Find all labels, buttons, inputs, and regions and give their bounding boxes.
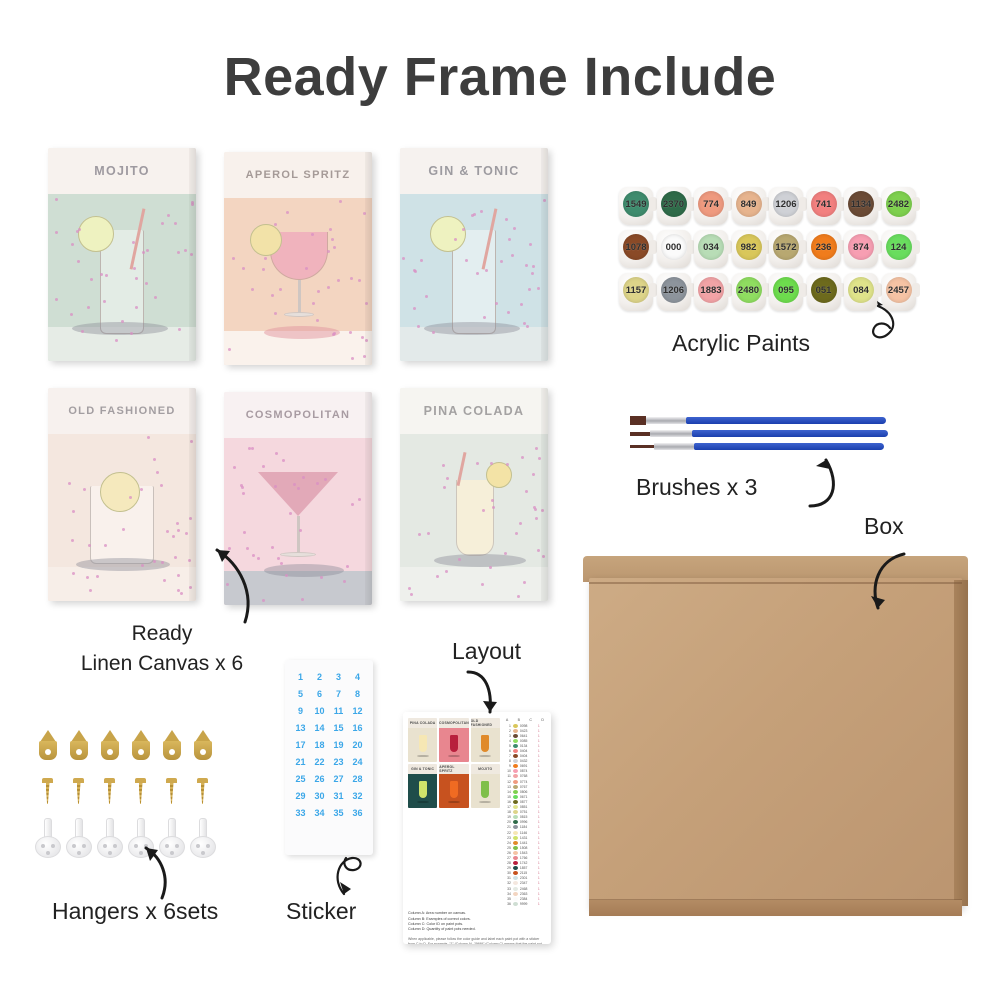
- layout-thumbnail-title: PINA COLADA: [408, 718, 437, 728]
- paint-pot-id: 2482: [888, 199, 909, 210]
- legend-color-swatch: [513, 734, 518, 738]
- hangers-arrow: [118, 838, 178, 902]
- brass-screw[interactable]: [73, 778, 84, 804]
- sticker-number[interactable]: 32: [348, 791, 367, 801]
- hanger-hole: [76, 749, 82, 755]
- canvas-poster-gin-tonic[interactable]: GIN & TONIC: [400, 148, 548, 361]
- legend-color-swatch: [513, 800, 518, 804]
- paint-pot-id: 1206: [663, 285, 684, 296]
- poster-artwork: [224, 198, 372, 365]
- sticker-number[interactable]: 2: [310, 672, 329, 682]
- legend-row: 804321: [504, 759, 546, 764]
- screw-shaft: [108, 783, 112, 804]
- paint-pot-000[interactable]: 000: [656, 229, 692, 269]
- hanger-hole: [200, 749, 206, 755]
- paint-pot-cap: 774: [698, 191, 724, 217]
- brass-screw[interactable]: [104, 778, 115, 804]
- sticker-number[interactable]: 16: [348, 723, 367, 733]
- paint-pot-741[interactable]: 741: [806, 186, 842, 226]
- paint-pot-cap: 095: [773, 277, 799, 303]
- legend-color-id: 2363: [520, 892, 536, 896]
- sticker-number[interactable]: 34: [310, 808, 329, 818]
- anchor-pin: [72, 844, 76, 848]
- legend-color-id: 0851: [520, 805, 536, 809]
- paint-pot-id: 982: [741, 242, 757, 253]
- legend-color-swatch: [513, 897, 518, 901]
- legend-row: 2515081: [504, 845, 546, 850]
- legend-area-number: 9: [504, 764, 511, 768]
- legend-color-swatch: [513, 861, 518, 865]
- paint-pot-874[interactable]: 874: [843, 229, 879, 269]
- legend-color-id: 0423: [520, 729, 536, 733]
- legend-quantity: 1: [538, 790, 543, 794]
- paint-pot-124[interactable]: 124: [881, 229, 917, 269]
- legend-row: 3021151: [504, 871, 546, 876]
- legend-color-id: 1766: [520, 856, 536, 860]
- sticker-number[interactable]: 19: [329, 740, 348, 750]
- canvas-poster-grid: MOJITOAPEROL SPRITZGIN & TONICOLD FASHIO…: [48, 148, 548, 608]
- paint-pot-cap: 1078: [623, 234, 649, 260]
- legend-quantity: 1: [538, 815, 543, 819]
- poster-artwork: [48, 194, 196, 361]
- acrylic-paint-pot-grid: 1549237077484912067411134248210780000349…: [618, 186, 918, 312]
- legend-row: 1608771: [504, 799, 546, 804]
- paint-pot-2482[interactable]: 2482: [881, 186, 917, 226]
- anchor-pin: [51, 844, 55, 848]
- screw-shaft: [201, 783, 205, 804]
- sticker-number[interactable]: 15: [329, 723, 348, 733]
- sticker-number[interactable]: 8: [348, 689, 367, 699]
- acrylic-paints-label: Acrylic Paints: [672, 330, 810, 357]
- paint-pot-cap: 2370: [661, 191, 687, 217]
- legend-quantity: 1: [538, 780, 543, 784]
- sticker-number[interactable]: 21: [291, 757, 310, 767]
- legend-color-swatch: [513, 769, 518, 773]
- paint-pot-1572[interactable]: 1572: [768, 229, 804, 269]
- anchor-pin: [82, 844, 86, 848]
- sticker-number[interactable]: 23: [329, 757, 348, 767]
- legend-row: 1207741: [504, 779, 546, 784]
- legend-color-id: 0098: [520, 724, 536, 728]
- canvas-arrow: [183, 540, 263, 630]
- paint-pot-cap: 1883: [698, 277, 724, 303]
- sticker-number[interactable]: 25: [291, 774, 310, 784]
- legend-area-number: 3: [504, 734, 511, 738]
- legend-area-number: 26: [504, 851, 511, 855]
- layout-thumbnail-image: [408, 728, 437, 762]
- poster-title-band: PINA COLADA: [400, 388, 548, 434]
- poster-title: APEROL SPRITZ: [246, 169, 351, 181]
- hanger-hole: [138, 749, 144, 755]
- paint-pot-cap: 741: [811, 191, 837, 217]
- legend-color-id: 0768: [520, 774, 536, 778]
- sticker-number[interactable]: 10: [310, 706, 329, 716]
- legend-color-swatch: [513, 851, 518, 855]
- paint-pot-id: 124: [891, 242, 907, 253]
- box-crease-bottom: [589, 899, 962, 901]
- sticker-number[interactable]: 33: [291, 808, 310, 818]
- paint-pot-1549[interactable]: 1549: [618, 186, 654, 226]
- sticker-number[interactable]: 36: [348, 808, 367, 818]
- paint-pot-236[interactable]: 236: [806, 229, 842, 269]
- paint-brush-2[interactable]: [630, 430, 900, 437]
- legend-color-swatch: [513, 825, 518, 829]
- cocktail-illustration: [400, 434, 548, 601]
- brass-hanger[interactable]: [100, 730, 120, 762]
- paint-pot-cap: 051: [811, 277, 837, 303]
- sticker-number[interactable]: 26: [310, 774, 329, 784]
- sticker-number[interactable]: 4: [348, 672, 367, 682]
- legend-quantity: 1: [538, 825, 543, 829]
- legend-color-id: 0671: [520, 795, 536, 799]
- sticker-number[interactable]: 31: [329, 791, 348, 801]
- legend-area-number: 23: [504, 836, 511, 840]
- layout-thumbnail-image: [471, 728, 500, 762]
- cocktail-illustration: [48, 434, 196, 601]
- legend-color-swatch: [513, 902, 518, 906]
- legend-quantity: 1: [538, 810, 543, 814]
- legend-area-number: 35: [504, 897, 511, 901]
- paint-pot-id: 051: [816, 285, 832, 296]
- legend-area-number: 30: [504, 871, 511, 875]
- paint-pot-1883[interactable]: 1883: [693, 272, 729, 312]
- legend-color-id: 2301: [520, 876, 536, 880]
- paint-pot-id: 741: [816, 199, 832, 210]
- sticker-number[interactable]: 35: [329, 808, 348, 818]
- legend-color-swatch: [513, 892, 518, 896]
- layout-instruction-sheet[interactable]: PINA COLADACOSMOPOLITANOLD FASHIONEDGIN …: [403, 712, 551, 944]
- sticker-number[interactable]: 12: [348, 706, 367, 716]
- legend-color-id: 0432: [520, 759, 536, 763]
- paint-pot-1134[interactable]: 1134: [843, 186, 879, 226]
- paint-pot-051[interactable]: 051: [806, 272, 842, 312]
- legend-color-swatch: [513, 749, 518, 753]
- paint-pot-row: 10780000349821572236874124: [618, 229, 918, 269]
- sticker-sheet[interactable]: 1234567891011121314151617181920212223242…: [285, 660, 373, 855]
- legend-area-number: 10: [504, 769, 511, 773]
- legend-color-swatch: [513, 881, 518, 885]
- layout-instructions-paragraph: When applicable, please follow the color…: [408, 937, 546, 944]
- poster-title: GIN & TONIC: [428, 164, 519, 178]
- legend-color-swatch: [513, 724, 518, 728]
- legend-area-number: 19: [504, 815, 511, 819]
- paint-pot-cap: 1206: [661, 277, 687, 303]
- brush-ferrule: [654, 443, 694, 450]
- layout-thumbnail-gin-tonic: GIN & TONIC: [408, 764, 437, 808]
- sticker-number[interactable]: 7: [329, 689, 348, 699]
- legend-quantity: 1: [538, 805, 543, 809]
- sticker-number[interactable]: 9: [291, 706, 310, 716]
- paint-pot-cap: 236: [811, 234, 837, 260]
- legend-area-number: 29: [504, 866, 511, 870]
- legend-row: 1908151: [504, 815, 546, 820]
- paint-pot-tab: [912, 283, 920, 297]
- legend-color-swatch: [513, 871, 518, 875]
- layout-thumbnail-title: GIN & TONIC: [408, 764, 437, 774]
- sticker-number[interactable]: 24: [348, 757, 367, 767]
- legend-color-id: 0877: [520, 800, 536, 804]
- sticker-number[interactable]: 1: [291, 672, 310, 682]
- canvas-label-line2: Linen Canvas x 6: [42, 652, 282, 676]
- legend-color-id: 1146: [520, 831, 536, 835]
- sticker-number[interactable]: 5: [291, 689, 310, 699]
- legend-color-swatch: [513, 785, 518, 789]
- poster-title: PINA COLADA: [424, 404, 525, 418]
- brass-screw[interactable]: [197, 778, 208, 804]
- paint-pot-id: 000: [666, 242, 682, 253]
- legend-row: 3423631: [504, 891, 546, 896]
- layout-arrow: [458, 668, 514, 724]
- legend-rows: 1009812042313064114008515013416040417040…: [504, 723, 546, 906]
- screw-head: [197, 778, 208, 783]
- legend-quantity: 1: [538, 846, 543, 850]
- legend-color-id: 1543: [520, 851, 536, 855]
- paint-pot-034[interactable]: 034: [693, 229, 729, 269]
- column-desc: Column D: Quantity of paint pots needed.: [408, 927, 546, 932]
- legend-area-number: 4: [504, 739, 511, 743]
- cocktail-illustration: [224, 198, 372, 365]
- anchor-pin: [77, 851, 81, 855]
- legend-color-id: 1184: [520, 825, 536, 829]
- legend-color-id: 0806: [520, 790, 536, 794]
- brass-hanger[interactable]: [193, 730, 213, 762]
- poster-edge: [541, 148, 548, 361]
- legend-area-number: 33: [504, 887, 511, 891]
- legend-row: 2414411: [504, 840, 546, 845]
- paint-pot-095[interactable]: 095: [768, 272, 804, 312]
- screw-shaft: [46, 783, 50, 804]
- legend-row: 3699991: [504, 901, 546, 906]
- paint-pot-id: 034: [703, 242, 719, 253]
- paint-pot-1157[interactable]: 1157: [618, 272, 654, 312]
- acrylic-paints-arrow: [848, 300, 908, 360]
- sticker-number[interactable]: 14: [310, 723, 329, 733]
- paint-pot-2370[interactable]: 2370: [656, 186, 692, 226]
- legend-quantity: 1: [538, 887, 543, 891]
- legend-area-number: 24: [504, 841, 511, 845]
- paint-pot-982[interactable]: 982: [731, 229, 767, 269]
- legend-quantity: 1: [538, 754, 543, 758]
- screw-shaft: [139, 783, 143, 804]
- legend-quantity: 1: [538, 769, 543, 773]
- legend-area-number: 34: [504, 892, 511, 896]
- legend-area-number: 17: [504, 805, 511, 809]
- sticker-number[interactable]: 3: [329, 672, 348, 682]
- paint-pot-id: 1572: [775, 242, 796, 253]
- brass-hanger[interactable]: [38, 730, 58, 762]
- paint-pot-id: 1206: [775, 199, 796, 210]
- legend-color-swatch: [513, 820, 518, 824]
- legend-color-swatch: [513, 744, 518, 748]
- legend-color-id: 2347: [520, 881, 536, 885]
- paint-pot-cap: 1572: [773, 234, 799, 260]
- paint-pot-1206[interactable]: 1206: [656, 272, 692, 312]
- sticker-number[interactable]: 6: [310, 689, 329, 699]
- poster-title-band: OLD FASHIONED: [48, 388, 196, 434]
- layout-thumbnail-image: [439, 728, 468, 762]
- legend-color-swatch: [513, 810, 518, 814]
- brass-hanger[interactable]: [131, 730, 151, 762]
- sticker-number[interactable]: 11: [329, 706, 348, 716]
- legend-row: 2717661: [504, 855, 546, 860]
- paint-pot-id: 2457: [888, 285, 909, 296]
- paint-pot-774[interactable]: 774: [693, 186, 729, 226]
- legend-quantity: 1: [538, 881, 543, 885]
- hanger-hole: [107, 749, 113, 755]
- layout-thumbnail-image: [408, 774, 437, 808]
- canvas-poster-old-fashioned[interactable]: OLD FASHIONED: [48, 388, 196, 601]
- legend-row: 1307671: [504, 784, 546, 789]
- legend-color-id: 1857: [520, 866, 536, 870]
- paint-pot-cap: 2482: [886, 191, 912, 217]
- brass-screw[interactable]: [166, 778, 177, 804]
- sticker-number[interactable]: 28: [348, 774, 367, 784]
- paint-pot-id: 2480: [738, 285, 759, 296]
- legend-area-number: 16: [504, 800, 511, 804]
- anchor-pin: [108, 851, 112, 855]
- legend-color-swatch: [513, 815, 518, 819]
- legend-area-number: 14: [504, 790, 511, 794]
- wall-anchor[interactable]: [66, 818, 92, 858]
- legend-quantity: 1: [538, 841, 543, 845]
- paint-pot-row: 15492370774849120674111342482: [618, 186, 918, 226]
- brush-tip: [630, 445, 654, 448]
- legend-area-number: 7: [504, 754, 511, 758]
- sticker-number[interactable]: 17: [291, 740, 310, 750]
- legend-color-id: 1441: [520, 841, 536, 845]
- legend-color-swatch: [513, 846, 518, 850]
- screw-head: [42, 778, 53, 783]
- cocktail-illustration: [48, 194, 196, 361]
- canvas-poster-mojito[interactable]: MOJITO: [48, 148, 196, 361]
- legend-row: 2111841: [504, 825, 546, 830]
- wall-anchor[interactable]: [190, 818, 216, 858]
- legend-area-number: 15: [504, 795, 511, 799]
- legend-row: 2918571: [504, 866, 546, 871]
- screw-head: [135, 778, 146, 783]
- sticker-number[interactable]: 22: [310, 757, 329, 767]
- poster-artwork: [400, 194, 548, 361]
- paint-pot-849[interactable]: 849: [731, 186, 767, 226]
- anchor-pin: [113, 844, 117, 848]
- paint-pot-cap: 1206: [773, 191, 799, 217]
- brush-handle: [692, 430, 888, 437]
- legend-area-number: 8: [504, 759, 511, 763]
- infographic-page: Ready Frame Include MOJITOAPEROL SPRITZG…: [0, 0, 1000, 1000]
- poster-edge: [189, 148, 196, 361]
- paint-pot-id: 095: [778, 285, 794, 296]
- legend-quantity: 1: [538, 785, 543, 789]
- legend-color-id: 9999: [520, 902, 536, 906]
- poster-title: COSMOPOLITAN: [246, 409, 351, 421]
- screw-head: [166, 778, 177, 783]
- legend-quantity: 1: [538, 749, 543, 753]
- legend-area-number: 25: [504, 846, 511, 850]
- legend-quantity: 1: [538, 734, 543, 738]
- legend-row: 3523841: [504, 896, 546, 901]
- legend-row: 906911: [504, 764, 546, 769]
- legend-color-swatch: [513, 729, 518, 733]
- paint-pot-tab: [912, 240, 920, 254]
- legend-quantity: 1: [538, 897, 543, 901]
- legend-color-id: 2384: [520, 897, 536, 901]
- sticker-number[interactable]: 13: [291, 723, 310, 733]
- legend-quantity: 1: [538, 871, 543, 875]
- legend-header-b: B: [518, 718, 520, 722]
- paint-pot-cap: 1134: [848, 191, 874, 217]
- legend-color-id: 0767: [520, 785, 536, 789]
- legend-row: 1408061: [504, 789, 546, 794]
- brushes-label: Brushes x 3: [636, 474, 757, 501]
- legend-area-number: 18: [504, 810, 511, 814]
- brass-hanger[interactable]: [69, 730, 89, 762]
- legend-area-number: 27: [504, 856, 511, 860]
- canvas-poster-pina-colada[interactable]: PINA COLADA: [400, 388, 548, 601]
- sticker-number[interactable]: 27: [329, 774, 348, 784]
- legend-quantity: 1: [538, 800, 543, 804]
- legend-row: 2009961: [504, 820, 546, 825]
- brass-screw[interactable]: [135, 778, 146, 804]
- paint-pot-id: 874: [853, 242, 869, 253]
- paint-pot-2480[interactable]: 2480: [731, 272, 767, 312]
- screw-shaft: [170, 783, 174, 804]
- legend-color-swatch: [513, 774, 518, 778]
- legend-area-number: 22: [504, 831, 511, 835]
- layout-thumbnail-title: APEROL SPRITZ: [439, 764, 468, 774]
- poster-title-band: APEROL SPRITZ: [224, 152, 372, 198]
- legend-quantity: 1: [538, 836, 543, 840]
- legend-color-swatch: [513, 739, 518, 743]
- layout-thumbnail-image: [439, 774, 468, 808]
- legend-row: 1008741: [504, 769, 546, 774]
- sticker-number[interactable]: 29: [291, 791, 310, 801]
- legend-row: 501341: [504, 743, 546, 748]
- brass-hanger[interactable]: [162, 730, 182, 762]
- sticker-number[interactable]: 30: [310, 791, 329, 801]
- paint-pot-1078[interactable]: 1078: [618, 229, 654, 269]
- legend-color-id: 0874: [520, 769, 536, 773]
- legend-color-id: 1431: [520, 836, 536, 840]
- legend-color-id: 0404: [520, 754, 536, 758]
- canvas-poster-aperol-spritz[interactable]: APEROL SPRITZ: [224, 152, 372, 365]
- legend-quantity: 1: [538, 831, 543, 835]
- paint-pot-id: 1157: [626, 285, 647, 296]
- legend-quantity: 1: [538, 764, 543, 768]
- paint-pot-cap: 000: [661, 234, 687, 260]
- paint-pot-cap: 982: [736, 234, 762, 260]
- paint-brush-1[interactable]: [630, 417, 900, 424]
- layout-thumbnail-image: [471, 774, 500, 808]
- legend-color-swatch: [513, 759, 518, 763]
- legend-color-swatch: [513, 795, 518, 799]
- sticker-number[interactable]: 18: [310, 740, 329, 750]
- anchor-pin: [201, 851, 205, 855]
- legend-row: 2817421: [504, 861, 546, 866]
- legend-area-number: 21: [504, 825, 511, 829]
- legend-color-swatch: [513, 790, 518, 794]
- sticker-number[interactable]: 20: [348, 740, 367, 750]
- brass-screw[interactable]: [42, 778, 53, 804]
- legend-quantity: 1: [538, 724, 543, 728]
- poster-edge: [541, 388, 548, 601]
- legend-color-id: 0085: [520, 739, 536, 743]
- legend-color-id: 0815: [520, 815, 536, 819]
- legend-area-number: 32: [504, 881, 511, 885]
- wall-anchor[interactable]: [35, 818, 61, 858]
- poster-title: MOJITO: [94, 164, 150, 178]
- brush-handle: [686, 417, 886, 424]
- paint-pot-1206[interactable]: 1206: [768, 186, 804, 226]
